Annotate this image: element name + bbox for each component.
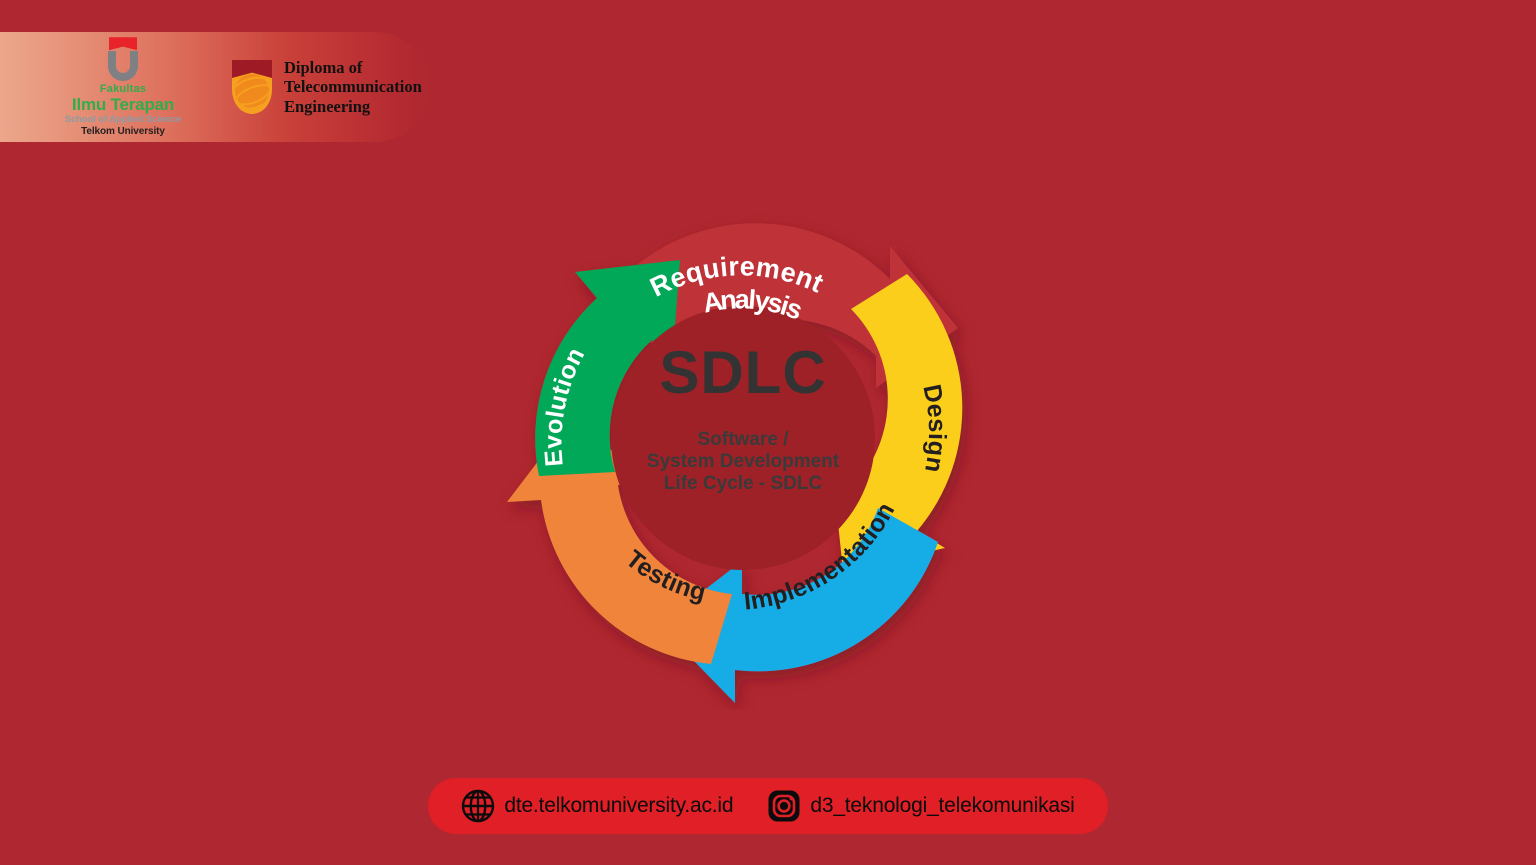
horseshoe-shape (108, 51, 138, 81)
diagram-center-title: SDLC (659, 339, 826, 406)
footer-instagram-text: d3_teknologi_telekomunikasi (810, 794, 1074, 818)
footer-website-text: dte.telkomuniversity.ac.id (504, 794, 733, 818)
footer-website-item[interactable]: dte.telkomuniversity.ac.id (461, 789, 733, 823)
logo-line-telkom-university: Telkom University (81, 127, 165, 137)
header-logo-bar: Fakultas Ilmu Terapan School of Applied … (0, 32, 430, 142)
globe-shape (235, 74, 269, 108)
globe-icon (461, 789, 495, 823)
instagram-icon (767, 789, 801, 823)
footer-instagram-item[interactable]: d3_teknologi_telekomunikasi (767, 789, 1074, 823)
flag-shape (109, 37, 137, 50)
dte-line-3: Engineering (284, 97, 422, 116)
diagram-center-subtitle-line1: Software / (698, 429, 790, 450)
logo-diploma-telecommunication-engineering: Diploma of Telecommunication Engineering (232, 58, 422, 116)
dte-line-2: Telecommunication (284, 77, 422, 96)
footer-contact-bar: dte.telkomuniversity.ac.id d3_teknologi_… (428, 778, 1108, 834)
dte-logo-text: Diploma of Telecommunication Engineering (284, 58, 422, 116)
logo-line-ilmu-terapan: Ilmu Terapan (72, 96, 174, 113)
dte-line-1: Diploma of (284, 58, 422, 77)
dte-shield-globe-icon (232, 60, 272, 114)
logo-fakultas-ilmu-terapan: Fakultas Ilmu Terapan School of Applied … (38, 37, 208, 137)
logo-line-fakultas: Fakultas (100, 84, 146, 95)
telkom-university-horseshoe-icon (106, 37, 140, 81)
diagram-center-subtitle-line2: System Development (647, 451, 840, 472)
diagram-center-subtitle-line3: Life Cycle - SDLC (664, 473, 823, 494)
sdlc-cycle-diagram: Requirement Analysis Design Implementati… (458, 150, 1028, 710)
logo-line-school-of-applied-science: School of Applied Science (65, 115, 181, 125)
slide-canvas: Fakultas Ilmu Terapan School of Applied … (0, 0, 1536, 865)
